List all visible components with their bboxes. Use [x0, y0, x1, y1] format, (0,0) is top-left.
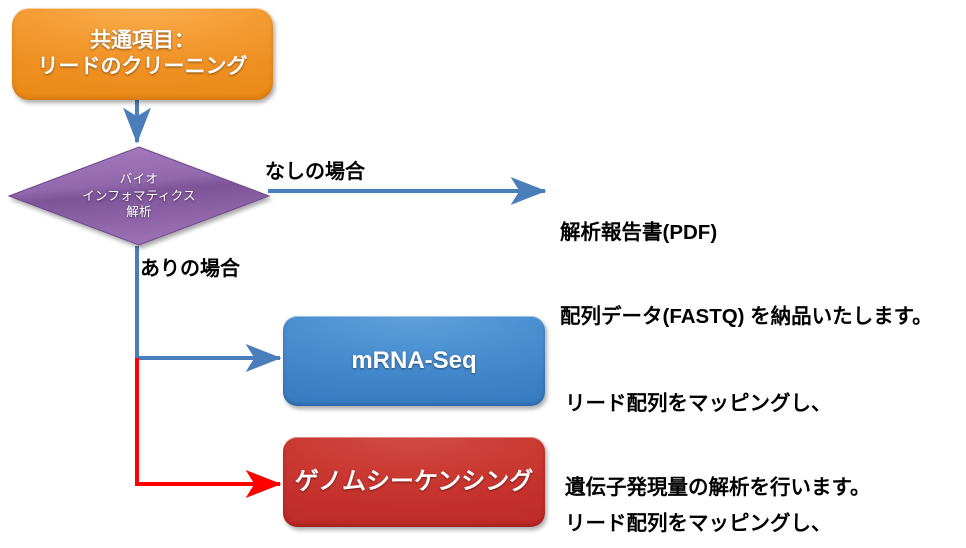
- annotation-report-line2: 配列データ(FASTQ) を納品いたします。: [560, 303, 933, 331]
- edge-label-nashi: なしの場合: [265, 155, 365, 184]
- annotation-genome-line1: リード配列をマッピングし、: [565, 510, 851, 538]
- node-decision-label-line3: 解析: [126, 204, 152, 221]
- node-bioinformatics-decision[interactable]: バイオ インフォマティクス 解析: [8, 146, 270, 246]
- node-decision-label-line1: バイオ: [120, 171, 158, 188]
- node-start-label-line2: リードのクリーニング: [38, 54, 248, 80]
- node-start-label-line1: 共通項目：: [38, 28, 248, 54]
- node-genome-sequencing[interactable]: ゲノムシーケンシング: [283, 437, 545, 527]
- node-common-read-cleaning[interactable]: 共通項目： リードのクリーニング: [12, 8, 273, 100]
- node-decision-label-line2: インフォマティクス: [82, 188, 196, 205]
- node-mrna-seq[interactable]: mRNA-Seq: [283, 316, 545, 406]
- edge-label-ari: ありの場合: [140, 252, 240, 281]
- annotation-mrna-line1: リード配列をマッピングし、: [565, 390, 870, 418]
- node-decision-label: バイオ インフォマティクス 解析: [8, 146, 270, 246]
- annotation-genome-desc: リード配列をマッピングし、 SNP/In/Del候補を抽出します。: [565, 453, 851, 548]
- node-mrna-label: mRNA-Seq: [351, 346, 476, 376]
- node-genome-label: ゲノムシーケンシング: [295, 467, 534, 497]
- flowchart-canvas: 共通項目： リードのクリーニング バイオ インフォマティクス 解析 mRNA-S…: [0, 0, 966, 548]
- connector-branch-to-genome: [137, 358, 280, 484]
- annotation-report-line1: 解析報告書(PDF): [560, 219, 933, 247]
